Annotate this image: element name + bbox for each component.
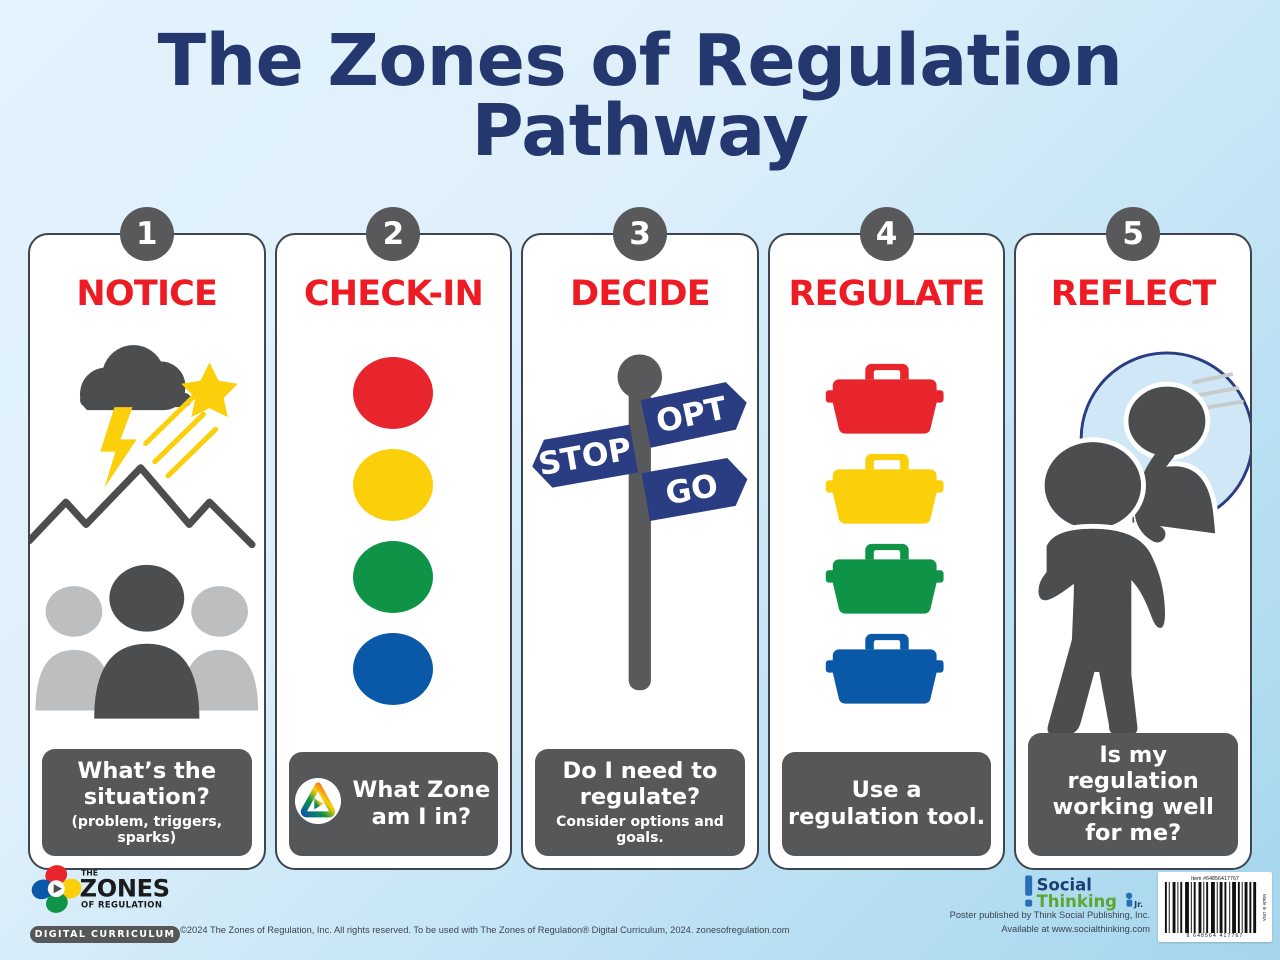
step-footer: What Zone am I in? (289, 752, 499, 856)
zones-logo-icon (295, 778, 341, 829)
toolbox-green-icon (825, 539, 949, 617)
footer-subtext: (problem, triggers, sparks) (48, 814, 246, 846)
title-line-2: Pathway (0, 96, 1280, 166)
storm-cloud-icon (80, 345, 191, 410)
toolbox-blue-icon (825, 629, 949, 707)
step-heading: REFLECT (1051, 274, 1216, 314)
step-number-badge: 3 (613, 207, 667, 261)
mountains-icon (30, 468, 252, 545)
publisher-line-2: Available at www.socialthinking.com (950, 923, 1150, 936)
step-footer: What’s the situation? (problem, triggers… (42, 749, 252, 856)
reflect-illustration (1016, 314, 1250, 733)
step-card-reflect[interactable]: 5 REFLECT (1014, 233, 1252, 870)
step-card-check-in[interactable]: 2 CHECK-IN (275, 233, 513, 870)
barcode-label: Item #64856417767 Made in USA 8 648564 4… (1158, 872, 1272, 942)
notice-illustration (30, 314, 264, 749)
people-group-icon (36, 565, 259, 719)
sign-stop: STOP (528, 425, 638, 491)
copyright-text: ©2024 The Zones of Regulation, Inc. All … (180, 925, 790, 935)
barcode-side-text: Made in USA (1262, 894, 1267, 921)
step-heading: CHECK-IN (304, 274, 483, 314)
step-heading: NOTICE (76, 274, 217, 314)
step-footer: Is my regulation working well for me? (1028, 733, 1238, 856)
toolbox-red-icon (825, 359, 949, 437)
step-number-badge: 1 (120, 207, 174, 261)
svg-text:ZONES: ZONES (80, 874, 170, 902)
footer-question: What’s the situation? (48, 758, 246, 810)
toolboxes-illustration (770, 314, 1004, 752)
title-line-1: The Zones of Regulation (0, 26, 1280, 96)
step-card-regulate[interactable]: 4 REGULATE (768, 233, 1006, 870)
svg-text:Jr.: Jr. (1133, 899, 1143, 909)
footer-question: Do I need to regulate? (541, 758, 739, 810)
step-card-notice[interactable]: 1 NOTICE (28, 233, 266, 870)
step-number-badge: 2 (366, 207, 420, 261)
toolbox-yellow-icon (825, 449, 949, 527)
footer-subtext: Consider options and goals. (541, 814, 739, 846)
sign-go: GO (642, 455, 752, 521)
pathway-steps: 1 NOTICE (28, 233, 1252, 870)
barcode-digits: 8 648564 417767 (1163, 933, 1267, 939)
footer-question: What Zone am I in? (351, 777, 493, 829)
social-thinking-logo: Social Thinking Jr. (1022, 873, 1150, 911)
step-footer: Do I need to regulate? Consider options … (535, 749, 745, 856)
step-heading: REGULATE (789, 274, 985, 314)
footer-question: Use a regulation tool. (788, 777, 986, 829)
zone-circles-illustration (277, 314, 511, 752)
step-number-badge: 4 (860, 207, 914, 261)
zone-circle-yellow (353, 449, 433, 521)
zone-circle-green (353, 541, 433, 613)
barcode-stripes-icon (1163, 882, 1259, 933)
svg-text:OF REGULATION: OF REGULATION (81, 899, 162, 909)
signpost-illustration: STOP OPT GO (523, 314, 757, 749)
digital-curriculum-badge: DIGITAL CURRICULUM (30, 926, 180, 944)
zone-circle-blue (353, 633, 433, 705)
step-number-badge: 5 (1106, 207, 1160, 261)
zones-brand-block: THE ZONES OF REGULATION DIGITAL CURRICUL… (30, 864, 180, 944)
step-card-decide[interactable]: 3 DECIDE STOP OPT (521, 233, 759, 870)
footer-question: Is my regulation working well for me? (1034, 742, 1232, 846)
page-title: The Zones of Regulation Pathway (0, 26, 1280, 167)
zone-circle-red (353, 357, 433, 429)
zones-wordmark-logo: THE ZONES OF REGULATION (30, 864, 180, 916)
publisher-line-1: Poster published by Think Social Publish… (950, 909, 1150, 922)
publisher-text: Poster published by Think Social Publish… (950, 909, 1150, 936)
step-footer: Use a regulation tool. (782, 752, 992, 856)
step-heading: DECIDE (570, 274, 710, 314)
